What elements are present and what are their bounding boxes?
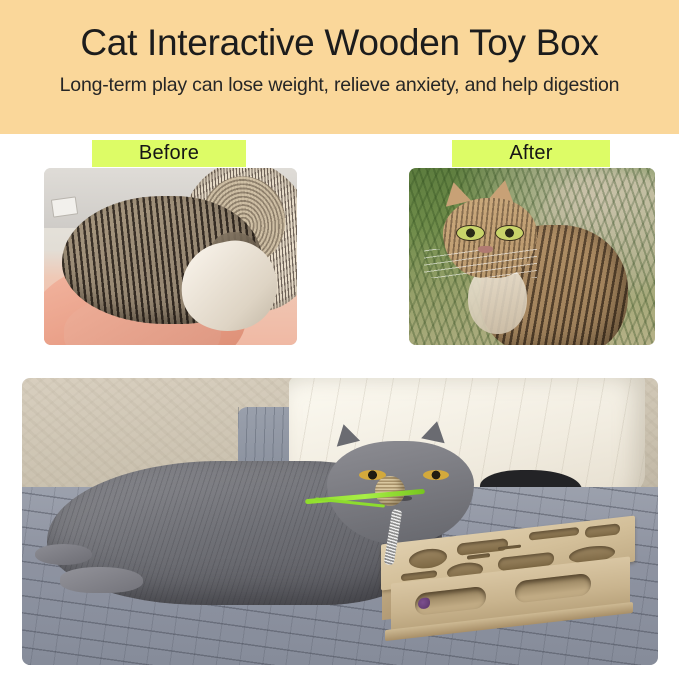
after-cat-nose	[478, 246, 493, 253]
toy-box-hole-round-1	[409, 547, 447, 571]
after-photo	[409, 168, 655, 345]
page-subtitle: Long-term play can lose weight, relieve …	[60, 74, 620, 97]
purple-mouse-toy	[418, 597, 429, 610]
grey-cat-front-paw	[60, 567, 143, 593]
before-label-text: Before	[139, 142, 199, 165]
header-banner: Cat Interactive Wooden Toy Box Long-term…	[0, 0, 679, 134]
main-photo-scene	[22, 378, 658, 665]
grey-cat-second-paw	[35, 544, 92, 564]
toy-box-front-opening-right	[515, 573, 591, 604]
after-label-text: After	[509, 142, 552, 165]
before-label-badge: Before	[92, 140, 246, 167]
main-product-photo	[22, 378, 658, 665]
toy-box-hole-oval-2	[529, 527, 580, 541]
after-photo-scene	[409, 168, 655, 345]
toy-box-front-opening-left	[415, 586, 487, 617]
before-photo-scene	[44, 168, 297, 345]
toy-box-hole-oval-3	[585, 524, 621, 538]
after-cat-eye-right	[495, 225, 524, 241]
before-photo	[44, 168, 297, 345]
page-title: Cat Interactive Wooden Toy Box	[80, 24, 598, 63]
after-cat-eye-left	[456, 225, 485, 241]
before-paper-tag	[50, 196, 77, 217]
after-cat-whiskers	[424, 249, 537, 277]
after-label-badge: After	[452, 140, 610, 167]
